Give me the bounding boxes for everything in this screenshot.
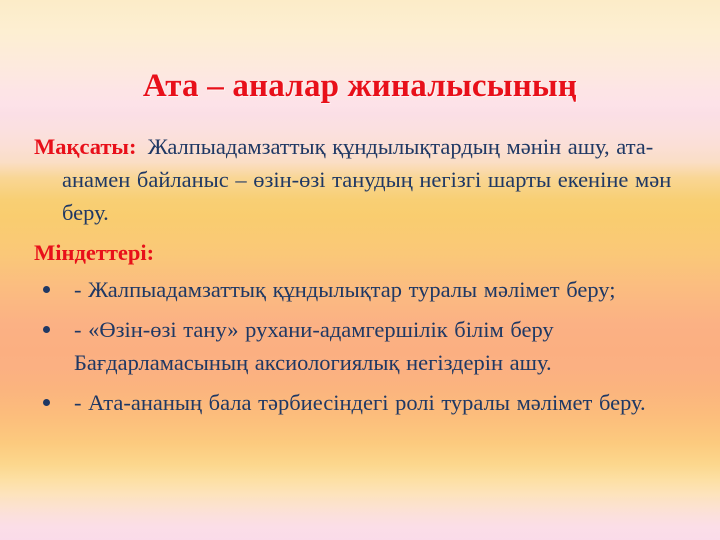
- presentation-slide: Ата – аналар жиналысының Мақсаты: Жалпыа…: [0, 0, 720, 540]
- list-item: - Жалпыадамзаттық құндылықтар туралы мәл…: [34, 273, 696, 306]
- purpose-spacer: [137, 134, 148, 159]
- task-item-text: - Жалпыадамзаттық құндылықтар туралы мәл…: [74, 277, 615, 302]
- bullet-dot-icon: [43, 326, 50, 333]
- slide-body: Мақсаты: Жалпыадамзаттық құндылықтардың …: [34, 130, 696, 426]
- slide-title: Ата – аналар жиналысының: [0, 66, 720, 106]
- purpose-label: Мақсаты:: [34, 134, 137, 159]
- task-item-text: - «Өзін-өзі тану» рухани-адамгершілік бі…: [74, 317, 554, 375]
- task-item-text: - Ата-ананың бала тәрбиесіндегі ролі тур…: [74, 390, 646, 415]
- bullet-dot-icon: [43, 286, 50, 293]
- list-item: - «Өзін-өзі тану» рухани-адамгершілік бі…: [34, 313, 696, 379]
- list-item: - Ата-ананың бала тәрбиесіндегі ролі тур…: [34, 386, 696, 419]
- bullet-dot-icon: [43, 399, 50, 406]
- tasks-heading: Міндеттері:: [34, 236, 696, 269]
- tasks-list: - Жалпыадамзаттық құндылықтар туралы мәл…: [34, 273, 696, 419]
- purpose-paragraph: Мақсаты: Жалпыадамзаттық құндылықтардың …: [34, 130, 696, 229]
- purpose-text: Жалпыадамзаттық құндылықтардың мәнін ашу…: [62, 134, 671, 225]
